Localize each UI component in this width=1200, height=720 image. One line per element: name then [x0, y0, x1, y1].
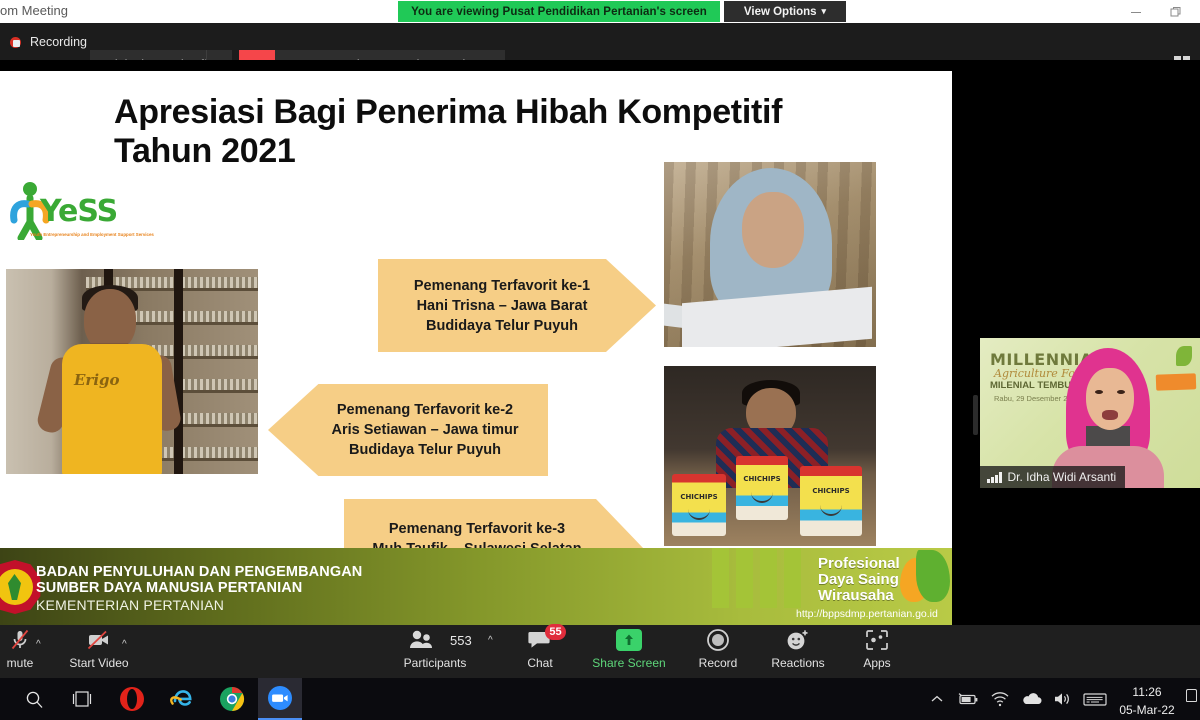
- taskbar-search-button[interactable]: [12, 681, 56, 717]
- chevron-down-icon: ▾: [822, 6, 827, 17]
- chichips-pack: CHICHIPS: [736, 456, 788, 520]
- clock-date: 05-Mar-22: [1114, 701, 1180, 719]
- bar: [784, 548, 801, 608]
- mute-label: mute: [7, 656, 34, 670]
- smiley-face: [751, 492, 773, 503]
- face: [742, 192, 804, 268]
- yess-logo-text: YeSS: [40, 194, 117, 229]
- bar: [736, 548, 753, 608]
- apps-button[interactable]: Apps: [850, 627, 904, 675]
- signal-bar: [991, 477, 994, 483]
- footer-url: http://bppsdmp.pertanian.go.id: [796, 608, 938, 620]
- record-button[interactable]: Record: [690, 627, 746, 675]
- orange-brushstroke: [1156, 373, 1197, 390]
- taskbar-task-view-button[interactable]: [60, 681, 104, 717]
- photo-winner-2: Erigo: [6, 269, 258, 474]
- participants-label: Participants: [404, 656, 467, 670]
- search-icon: [25, 690, 44, 709]
- tray-wifi-button[interactable]: [986, 681, 1014, 717]
- record-circle-icon: [706, 627, 730, 653]
- pack-label: CHICHIPS: [680, 493, 717, 501]
- taskbar-chrome-button[interactable]: [210, 681, 254, 717]
- chevron-up-icon[interactable]: ^: [488, 635, 493, 646]
- show-hidden-icons-icon: [930, 694, 944, 704]
- view-options-button[interactable]: View Options ▾: [724, 1, 846, 22]
- mouth: [1102, 410, 1118, 420]
- share-screen-label: Share Screen: [592, 656, 665, 670]
- chat-unread-badge: 55: [545, 624, 566, 640]
- person-figure: Erigo: [56, 289, 164, 474]
- internet-explorer-icon: [169, 686, 195, 712]
- callout-line-1: Pemenang Terfavorit ke-1: [414, 276, 590, 296]
- zoom-meeting-window: om Meeting You are viewing Pusat Pendidi…: [0, 0, 1200, 720]
- callout-line-2: Aris Setiawan – Jawa timur: [332, 420, 519, 440]
- minimize-button[interactable]: [1118, 0, 1154, 23]
- participants-button[interactable]: 553 ^ Participants: [398, 627, 472, 675]
- callout-line-3: Budidaya Telur Puyuh: [426, 316, 578, 336]
- onedrive-icon: [1021, 692, 1043, 706]
- camera-off-icon: [86, 627, 112, 653]
- tray-show-hidden-button[interactable]: [924, 681, 950, 717]
- signal-bar: [999, 472, 1002, 483]
- participant-name-label: Dr. Idha Widi Arsanti: [980, 466, 1125, 488]
- mute-button[interactable]: ^ mute: [0, 627, 48, 675]
- participants-count: 553: [450, 633, 472, 648]
- callout-winner-1: Pemenang Terfavorit ke-1 Hani Trisna – J…: [378, 259, 656, 352]
- chat-label: Chat: [527, 656, 552, 670]
- minimize-icon: [1130, 6, 1142, 18]
- clock-time: 11:26: [1114, 683, 1180, 701]
- tray-onedrive-button[interactable]: [1018, 681, 1046, 717]
- callout-line-1: Pemenang Terfavorit ke-3: [389, 519, 565, 539]
- start-video-label: Start Video: [69, 656, 128, 670]
- tray-keyboard-button[interactable]: [1080, 681, 1110, 717]
- callout-line-3: Budidaya Telur Puyuh: [349, 440, 501, 460]
- yess-logo-tagline: Youth Entrepreneurship and Employment Su…: [30, 232, 154, 237]
- notification-center-icon[interactable]: [1186, 689, 1197, 702]
- flame-green: [916, 550, 950, 602]
- wifi-icon: [990, 691, 1010, 707]
- zoom-icon: [267, 685, 293, 711]
- chevron-up-icon[interactable]: ^: [36, 639, 41, 650]
- smiley-face: [688, 509, 710, 520]
- opera-icon: [119, 686, 145, 712]
- participant-name: Dr. Idha Widi Arsanti: [1008, 470, 1117, 484]
- tray-battery-button[interactable]: [954, 681, 982, 717]
- pack-label: CHICHIPS: [743, 475, 780, 483]
- recording-label: Recording: [30, 35, 87, 49]
- chrome-icon: [219, 686, 245, 712]
- shirt-text: Erigo: [74, 371, 120, 389]
- chichips-pack: CHICHIPS: [672, 474, 726, 536]
- footer-line-2: SUMBER DAYA MANUSIA PERTANIAN: [36, 580, 302, 596]
- rack-post: [174, 269, 183, 474]
- chichips-pack: CHICHIPS: [800, 466, 862, 536]
- share-screen-icon: [616, 627, 642, 653]
- share-arrow-box: [616, 629, 642, 651]
- slogan-line-2: Daya Saing: [818, 572, 900, 588]
- windows-taskbar: 11:26 05-Mar-22: [0, 678, 1200, 720]
- backdrop-line-4: Rabu, 29 Desember 2: [994, 394, 1067, 403]
- recording-stop-icon: [8, 35, 23, 50]
- smiley-plus-icon: [785, 627, 811, 653]
- participant-video-thumbnail[interactable]: MILLENNIAL Agriculture Forum MILENIAL TE…: [980, 338, 1200, 488]
- signal-strength-icon: [987, 472, 1002, 483]
- volume-icon: [1052, 691, 1072, 707]
- seal-inner: [0, 569, 33, 605]
- leaf-graphic: [1176, 346, 1192, 366]
- yess-logo: YeSS Youth Entrepreneurship and Employme…: [10, 176, 110, 248]
- signal-bar: [995, 475, 998, 483]
- photo-winner-1: [664, 162, 876, 347]
- slogan: Profesional Daya Saing Wirausaha: [818, 556, 900, 604]
- bar: [712, 548, 729, 608]
- slogan-line-1: Profesional: [818, 556, 900, 572]
- eye: [1117, 390, 1125, 394]
- meeting-controls-toolbar: ^ mute ^ Start Video: [0, 625, 1200, 678]
- smiley-face: [820, 505, 842, 516]
- slogan-line-3: Wirausaha: [818, 588, 900, 604]
- restore-button[interactable]: [1158, 0, 1194, 23]
- bar: [760, 548, 777, 608]
- battery-icon: [957, 692, 979, 706]
- slide-footer-banner: BADAN PENYULUHAN DAN PENGEMBANGAN SUMBER…: [0, 548, 952, 625]
- chevron-up-icon[interactable]: ^: [122, 639, 127, 650]
- taskbar-opera-button[interactable]: [110, 681, 154, 717]
- record-label: Record: [699, 656, 738, 670]
- recording-indicator[interactable]: Recording: [8, 30, 87, 54]
- start-video-button[interactable]: ^ Start Video: [64, 627, 134, 675]
- taskbar-zoom-button[interactable]: [258, 678, 302, 720]
- face: [1086, 368, 1134, 430]
- chat-button[interactable]: 55 Chat: [512, 627, 568, 675]
- video-panel-drag-handle[interactable]: [973, 395, 978, 435]
- footer-line-1: BADAN PENYULUHAN DAN PENGEMBANGAN: [36, 564, 362, 580]
- microphone-muted-icon: [8, 627, 32, 653]
- window-title: om Meeting: [0, 3, 68, 18]
- taskbar-clock[interactable]: 11:26 05-Mar-22: [1114, 683, 1180, 719]
- window-title-bar: om Meeting You are viewing Pusat Pendidi…: [0, 0, 1200, 23]
- reactions-button[interactable]: Reactions: [766, 627, 830, 675]
- head: [84, 289, 136, 351]
- shared-slide: Apresiasi Bagi Penerima Hibah Kompetitif…: [0, 71, 952, 625]
- tray-volume-button[interactable]: [1048, 681, 1076, 717]
- callout-line-2: Hani Trisna – Jawa Barat: [417, 296, 588, 316]
- callout-winner-2: Pemenang Terfavorit ke-2 Aris Setiawan –…: [268, 384, 548, 476]
- apps-brackets-icon: [865, 627, 889, 653]
- callout-line-1: Pemenang Terfavorit ke-2: [337, 400, 513, 420]
- apps-label: Apps: [863, 656, 890, 670]
- flame-logo-icon: [900, 550, 952, 608]
- task-view-icon: [71, 691, 93, 707]
- restore-icon: [1170, 6, 1182, 18]
- page-title: Apresiasi Bagi Penerima Hibah Kompetitif…: [114, 93, 834, 171]
- photo-winner-3: CHICHIPS CHICHIPS CHICHIPS: [664, 366, 876, 546]
- eye: [1095, 390, 1103, 394]
- footer-line-3: KEMENTERIAN PERTANIAN: [36, 597, 224, 613]
- taskbar-internet-explorer-button[interactable]: [160, 681, 204, 717]
- shirt: [62, 344, 162, 474]
- signal-bar: [987, 479, 990, 483]
- view-options-label: View Options: [744, 6, 817, 18]
- screen-share-banner: You are viewing Pusat Pendidikan Pertani…: [398, 1, 720, 22]
- participants-icon: 553 ^: [408, 627, 462, 653]
- reactions-label: Reactions: [771, 656, 824, 670]
- meeting-stage: Apresiasi Bagi Penerima Hibah Kompetitif…: [0, 60, 1200, 625]
- pack-label: CHICHIPS: [812, 487, 849, 495]
- chat-bubble-icon: 55: [528, 627, 552, 653]
- decorative-bars: [712, 548, 812, 608]
- keyboard-icon: [1083, 692, 1107, 707]
- share-screen-button[interactable]: Share Screen: [586, 627, 672, 675]
- recording-toolbar: Recording Original Sound: Off ▾ LIVE on …: [0, 23, 1200, 60]
